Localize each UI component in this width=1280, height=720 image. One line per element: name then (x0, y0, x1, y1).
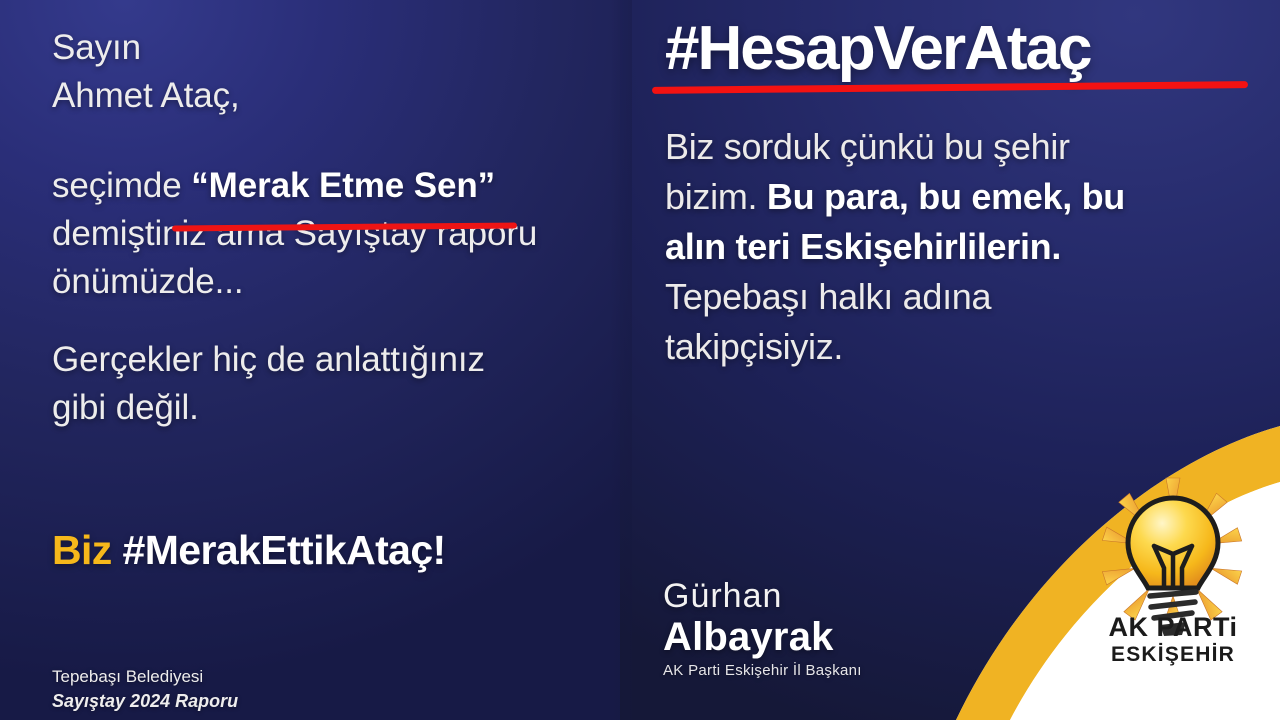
city-name: ESKİŞEHİR (1078, 642, 1268, 668)
spacer (52, 120, 597, 162)
slogan-hashtag: #MerakEttikAtaç! (123, 527, 446, 573)
paragraph-2-line-2: gibi değil. (52, 384, 597, 432)
quoted-phrase: “Merak Etme Sen” (191, 166, 495, 205)
paragraph-1-prefix: seçimde (52, 166, 191, 205)
signature-last-name: Albayrak (663, 615, 862, 659)
main-hashtag-title: #HesapVerAtaç (665, 14, 1260, 84)
paragraph-1-line-2: demiştiniz ama Sayıştay raporu (52, 210, 597, 258)
paragraph-2-line-1: Gerçekler hiç de anlattığınız (52, 336, 597, 384)
salutation-line-2: Ahmet Ataç, (52, 72, 597, 120)
right-body-line-2: bizim. Bu para, bu emek, bu (665, 172, 1250, 222)
right-body-line-2-prefix: bizim. (665, 176, 767, 217)
right-body-text: Biz sorduk çünkü bu şehir bizim. Bu para… (665, 122, 1250, 372)
paragraph-1-line-1: seçimde “Merak Etme Sen” (52, 162, 597, 210)
left-footer-source: Tepebaşı Belediyesi Sayıştay 2024 Raporu (52, 664, 238, 714)
footer-line-2: Sayıştay 2024 Raporu (52, 689, 238, 714)
panel-divider (610, 0, 632, 720)
right-body-line-2-bold: Bu para, bu emek, bu (767, 176, 1125, 217)
signature-role: AK Parti Eskişehir İl Başkanı (663, 662, 862, 679)
paragraph-1-line-3: önümüzde... (52, 258, 597, 306)
right-message-block: #HesapVerAtaç (665, 14, 1260, 84)
right-body-line-1: Biz sorduk çünkü bu şehir (665, 122, 1250, 172)
ak-parti-wordmark: AK PARTi ESKİŞEHİR (1078, 612, 1268, 668)
left-slogan: Biz #MerakEttikAtaç! (52, 527, 446, 574)
footer-line-1: Tepebaşı Belediyesi (52, 664, 238, 689)
slogan-accent-word: Biz (52, 527, 112, 573)
campaign-poster: Sayın Ahmet Ataç, seçimde “Merak Etme Se… (0, 0, 1280, 720)
right-body-line-4: Tepebaşı halkı adına (665, 272, 1250, 322)
signature-first-name: Gürhan (663, 578, 862, 615)
salutation-line-1: Sayın (52, 24, 597, 72)
right-body-line-3-bold: alın teri Eskişehirlilerin. (665, 226, 1061, 267)
right-body-line-3: alın teri Eskişehirlilerin. (665, 222, 1250, 272)
party-name: AK PARTi (1078, 612, 1268, 642)
spacer (52, 306, 597, 336)
signature-block: Gürhan Albayrak AK Parti Eskişehir İl Ba… (663, 578, 862, 679)
right-body-line-5: takipçisiyiz. (665, 322, 1250, 372)
